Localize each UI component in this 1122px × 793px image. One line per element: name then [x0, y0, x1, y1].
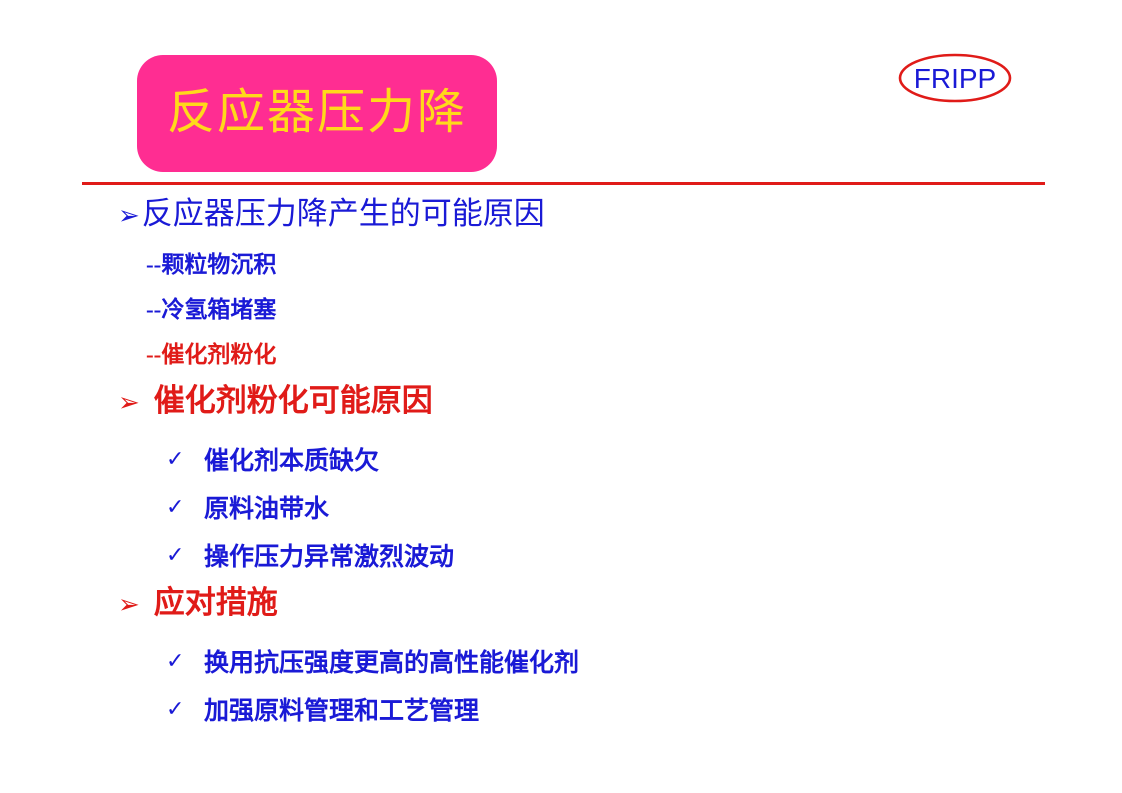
section-2-heading-text: 催化剂粉化可能原因	[140, 385, 433, 416]
check-icon: ✓	[166, 543, 204, 568]
arrow-bullet-icon: ➢	[118, 390, 140, 416]
arrow-bullet-icon: ➢	[118, 203, 140, 229]
arrow-bullet-icon: ➢	[118, 592, 140, 618]
header-divider	[82, 182, 1045, 185]
check-icon: ✓	[166, 697, 204, 722]
slide-title-box: 反应器压力降	[137, 55, 497, 172]
list-item: --冷氢箱堵塞	[0, 287, 1122, 332]
section-2-heading: ➢ 催化剂粉化可能原因	[0, 377, 1122, 435]
section-1-heading: ➢ 反应器压力降产生的可能原因	[0, 198, 1122, 242]
list-item-label: 催化剂本质缺欠	[204, 441, 379, 477]
list-item: --颗粒物沉积	[0, 242, 1122, 287]
slide-body: ➢ 反应器压力降产生的可能原因 --颗粒物沉积 --冷氢箱堵塞 --催化剂粉化 …	[0, 198, 1122, 733]
list-item-label: 加强原料管理和工艺管理	[204, 691, 479, 727]
check-icon: ✓	[166, 495, 204, 520]
list-item: ✓ 原料油带水	[0, 483, 1122, 531]
check-icon: ✓	[166, 447, 204, 472]
list-item-label: 操作压力异常激烈波动	[204, 537, 454, 573]
list-item: ✓ 换用抗压强度更高的高性能催化剂	[0, 637, 1122, 685]
list-item: ✓ 催化剂本质缺欠	[0, 435, 1122, 483]
fripp-logo: FRIPP	[897, 52, 1013, 104]
check-icon: ✓	[166, 649, 204, 674]
section-2: ➢ 催化剂粉化可能原因 ✓ 催化剂本质缺欠 ✓ 原料油带水 ✓ 操作压力异常激烈…	[0, 377, 1122, 579]
section-1: ➢ 反应器压力降产生的可能原因 --颗粒物沉积 --冷氢箱堵塞 --催化剂粉化	[0, 198, 1122, 377]
section-1-heading-text: 反应器压力降产生的可能原因	[140, 198, 545, 229]
section-3: ➢ 应对措施 ✓ 换用抗压强度更高的高性能催化剂 ✓ 加强原料管理和工艺管理	[0, 579, 1122, 733]
list-item: ✓ 加强原料管理和工艺管理	[0, 685, 1122, 733]
fripp-logo-ellipse-icon: FRIPP	[897, 52, 1013, 104]
list-item: --催化剂粉化	[0, 332, 1122, 377]
list-item-label: 换用抗压强度更高的高性能催化剂	[204, 643, 579, 679]
section-3-heading: ➢ 应对措施	[0, 579, 1122, 637]
list-item-label: 原料油带水	[204, 489, 329, 525]
section-3-heading-text: 应对措施	[140, 587, 278, 618]
list-item: ✓ 操作压力异常激烈波动	[0, 531, 1122, 579]
fripp-logo-text: FRIPP	[914, 63, 996, 94]
slide-title: 反应器压力降	[167, 88, 467, 136]
